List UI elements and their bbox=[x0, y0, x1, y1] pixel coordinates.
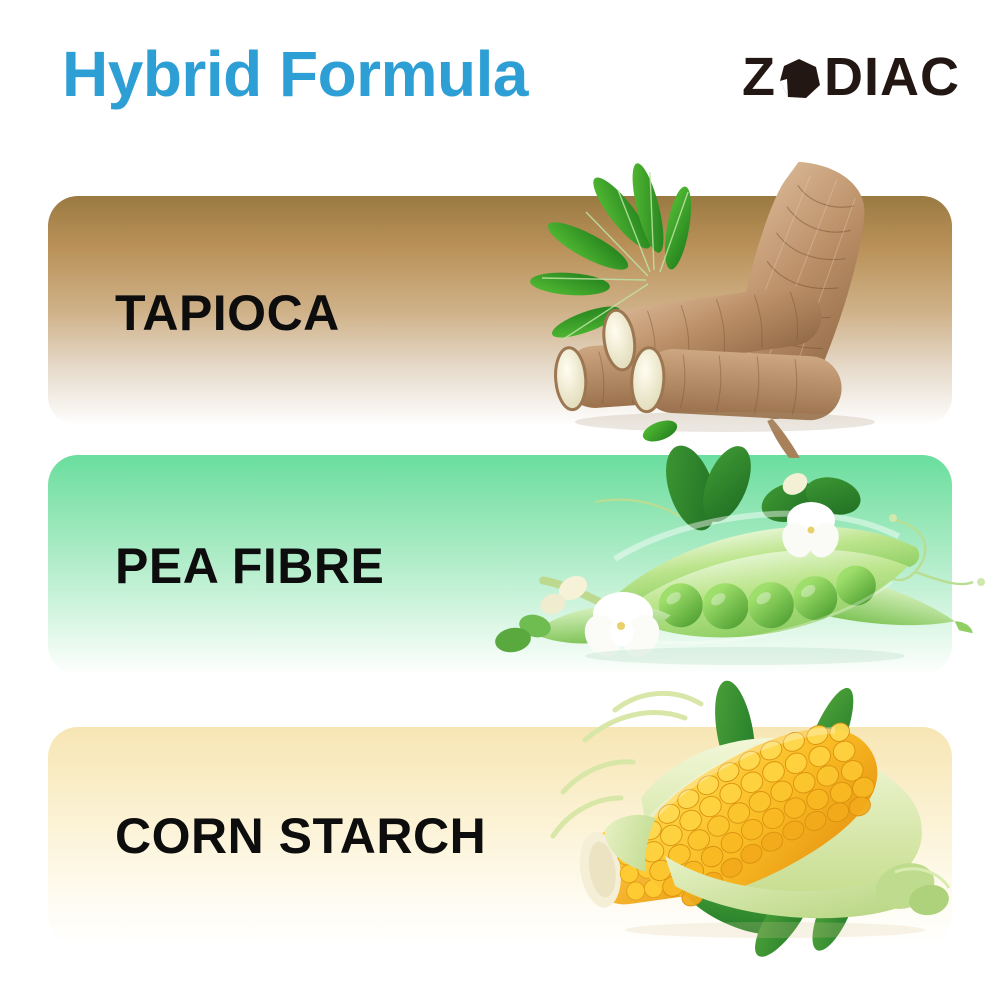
card-label-tapioca: TAPIOCA bbox=[115, 288, 340, 338]
brand-letter-z: Z bbox=[742, 50, 776, 104]
brand-letters-diac: DIAC bbox=[824, 47, 960, 107]
promo-graphic-root: Hybrid Formula Z DIAC TAPIOCA bbox=[0, 0, 1000, 1000]
card-label-corn-starch: CORN STARCH bbox=[115, 811, 486, 861]
card-label-pea-fibre: PEA FIBRE bbox=[115, 541, 384, 591]
page-title: Hybrid Formula bbox=[62, 42, 528, 106]
brand-logo: Z DIAC bbox=[742, 48, 960, 106]
zodiac-hexagon-o-icon bbox=[778, 57, 822, 101]
